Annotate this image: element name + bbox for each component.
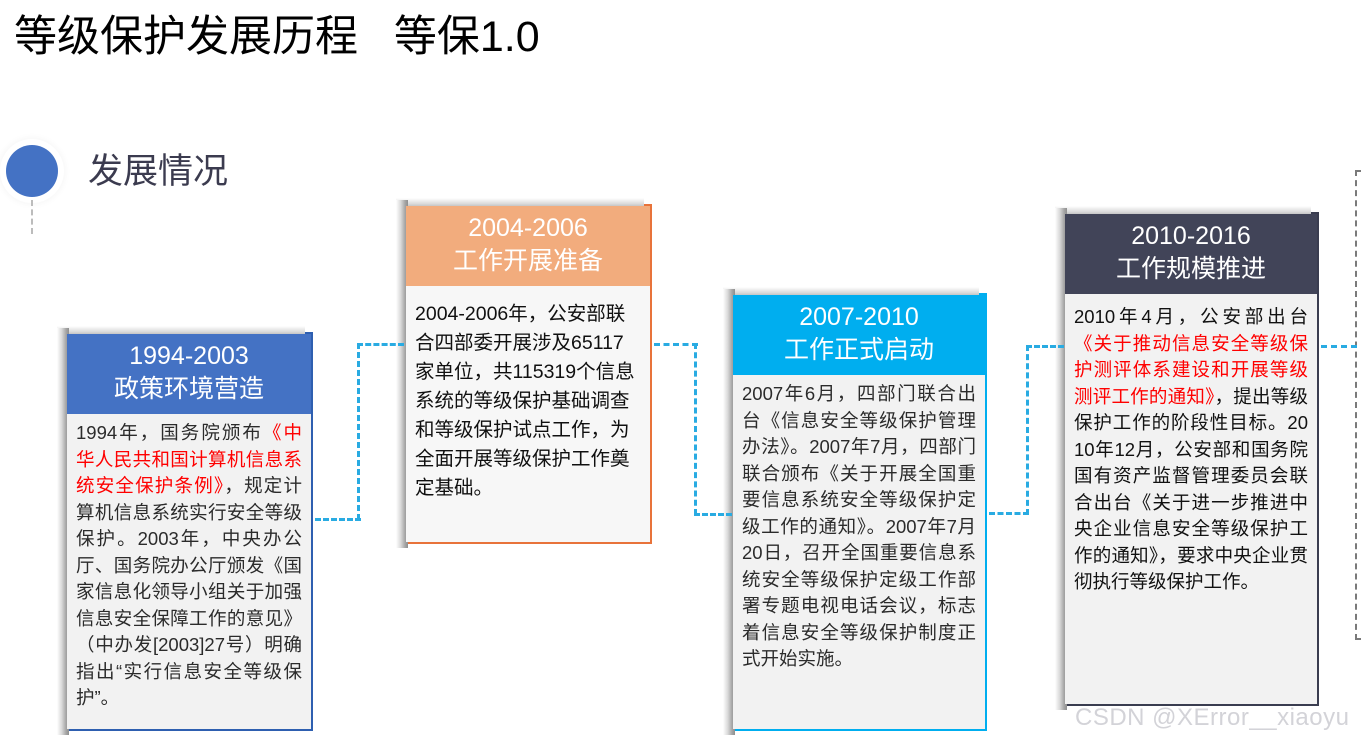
legend-bullet-dot (6, 145, 58, 197)
watermark: CSDN @XError__xiaoyu (1075, 703, 1349, 733)
body-text-run: 2007年6月，四部门联合出台《信息安全等级保护管理办法》。2007年7月，四部… (742, 383, 976, 669)
card-header: 1994-2003 政策环境营造 (67, 334, 311, 414)
body-text-run: 2010年4月，公安部出台 (1074, 306, 1308, 327)
card-body-text: 2010年4月，公安部出台《关于推动信息安全等级保护测评体系建设和开展等级测评工… (1074, 304, 1308, 596)
card-body-text: 2004-2006年，公安部联合四部委开展涉及65117家单位，共115319个… (415, 300, 641, 503)
body-text-run: 1994年，国务院颁布 (76, 422, 263, 443)
card-body: 1994年，国务院颁布《中华人民共和国计算机信息系统安全保护条例》，规定计算机信… (67, 414, 311, 729)
card-header: 2004-2006 工作开展准备 (406, 206, 650, 286)
card-subtitle: 政策环境营造 (71, 373, 307, 406)
timeline-card-next-placeholder[interactable] (1355, 170, 1364, 640)
card-body: 2004-2006年，公安部联合四部委开展涉及65117家单位，共115319个… (406, 286, 650, 542)
card-header: 2010-2016 工作规模推进 (1065, 214, 1317, 294)
legend-label: 发展情况 (88, 148, 228, 196)
card-body-text: 1994年，国务院颁布《中华人民共和国计算机信息系统安全保护条例》，规定计算机信… (76, 420, 302, 712)
card-body: 2010年4月，公安部出台《关于推动信息安全等级保护测评体系建设和开展等级测评工… (1065, 294, 1317, 704)
legend-bullet-stem (31, 200, 33, 234)
body-text-run: ，提出等级保护工作的阶段性目标。2010年12月，公安部和国务院国有资产监督管理… (1074, 386, 1308, 593)
timeline-card-2004-2006[interactable]: 2004-2006 工作开展准备 2004-2006年，公安部联合四部委开展涉及… (404, 204, 652, 544)
card-subtitle: 工作开展准备 (410, 245, 646, 278)
card-years: 1994-2003 (71, 340, 307, 373)
card-subtitle: 工作规模推进 (1069, 253, 1313, 286)
body-text-run: 2004-2006年，公安部联合四部委开展涉及65117家单位，共115319个… (415, 303, 635, 499)
card-subtitle: 工作正式启动 (737, 334, 981, 367)
card-header: 2007-2010 工作正式启动 (733, 295, 985, 375)
timeline-card-2007-2010[interactable]: 2007-2010 工作正式启动 2007年6月，四部门联合出台《信息安全等级保… (731, 293, 987, 731)
card-years: 2007-2010 (737, 301, 981, 334)
card-body: 2007年6月，四部门联合出台《信息安全等级保护管理办法》。2007年7月，四部… (733, 375, 985, 729)
timeline-card-1994-2003[interactable]: 1994-2003 政策环境营造 1994年，国务院颁布《中华人民共和国计算机信… (65, 332, 313, 731)
timeline-card-2010-2016[interactable]: 2010-2016 工作规模推进 2010年4月，公安部出台《关于推动信息安全等… (1063, 212, 1319, 706)
card-years: 2010-2016 (1069, 220, 1313, 253)
body-text-run: ，规定计算机信息系统实行安全等级保护。2003年，中央办公厅、国务院办公厅颁发《… (76, 475, 302, 708)
card-years: 2004-2006 (410, 212, 646, 245)
card-body-text: 2007年6月，四部门联合出台《信息安全等级保护管理办法》。2007年7月，四部… (742, 381, 976, 673)
page-title: 等级保护发展历程 等保1.0 (14, 8, 540, 66)
slide-canvas: 等级保护发展历程 等保1.0 发展情况 1994-2003 政策环境营造 (0, 0, 1364, 737)
